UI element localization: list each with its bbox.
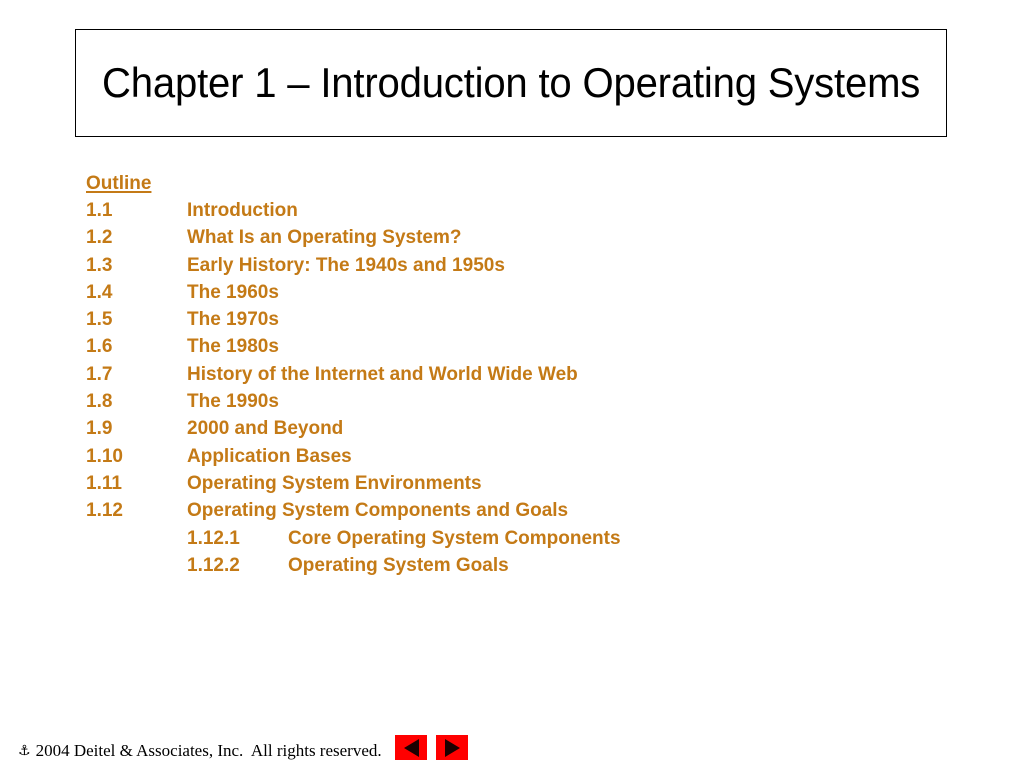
outline-item-title: Early History: The 1940s and 1950s xyxy=(187,252,505,279)
outline-item-number: 1.10 xyxy=(86,443,187,470)
outline-item-number: 1.1 xyxy=(86,197,187,224)
outline-item-number: 1.3 xyxy=(86,252,187,279)
outline-heading: Outline xyxy=(86,170,151,197)
outline-item: 1.12Operating System Components and Goal… xyxy=(86,497,926,524)
outline-item: 1.12.2Operating System Goals xyxy=(86,552,926,579)
page-title: Chapter 1 – Introduction to Operating Sy… xyxy=(102,62,920,104)
previous-slide-button[interactable] xyxy=(395,735,427,760)
outline-item: 1.4The 1960s xyxy=(86,279,926,306)
outline-section: Outline 1.1Introduction1.2What Is an Ope… xyxy=(86,170,926,579)
outline-item: 1.92000 and Beyond xyxy=(86,415,926,442)
outline-item-number: 1.5 xyxy=(86,306,187,333)
outline-item-title: Core Operating System Components xyxy=(288,525,621,552)
outline-item: 1.1Introduction xyxy=(86,197,926,224)
footer: ⚓ 2004 Deitel & Associates, Inc. All rig… xyxy=(18,736,382,764)
outline-item: 1.8The 1990s xyxy=(86,388,926,415)
outline-item-number: 1.9 xyxy=(86,415,187,442)
slide-navigation xyxy=(395,735,468,760)
triangle-left-icon xyxy=(404,739,419,757)
outline-item-number: 1.12.1 xyxy=(187,525,288,552)
outline-item-number: 1.2 xyxy=(86,224,187,251)
outline-item-number: 1.12 xyxy=(86,497,187,524)
outline-item-title: History of the Internet and World Wide W… xyxy=(187,361,578,388)
outline-item-title: 2000 and Beyond xyxy=(187,415,343,442)
outline-item: 1.3Early History: The 1940s and 1950s xyxy=(86,252,926,279)
outline-item: 1.11Operating System Environments xyxy=(86,470,926,497)
outline-item-title: Operating System Components and Goals xyxy=(187,497,568,524)
outline-item: 1.12.1Core Operating System Components xyxy=(86,525,926,552)
outline-list: 1.1Introduction1.2What Is an Operating S… xyxy=(86,197,926,579)
outline-item-title: Operating System Goals xyxy=(288,552,509,579)
outline-item-title: The 1970s xyxy=(187,306,279,333)
triangle-right-icon xyxy=(445,739,460,757)
slide-title-box: Chapter 1 – Introduction to Operating Sy… xyxy=(75,29,947,137)
outline-item-title: Application Bases xyxy=(187,443,352,470)
outline-item-title: Introduction xyxy=(187,197,298,224)
next-slide-button[interactable] xyxy=(436,735,468,760)
outline-item-title: The 1960s xyxy=(187,279,279,306)
outline-item-number: 1.6 xyxy=(86,333,187,360)
outline-item: 1.6The 1980s xyxy=(86,333,926,360)
outline-item-number: 1.11 xyxy=(86,470,187,497)
outline-item-number: 1.4 xyxy=(86,279,187,306)
outline-item-title: The 1980s xyxy=(187,333,279,360)
outline-item: 1.10Application Bases xyxy=(86,443,926,470)
outline-item: 1.2What Is an Operating System? xyxy=(86,224,926,251)
outline-item-number: 1.7 xyxy=(86,361,187,388)
outline-item-title: The 1990s xyxy=(187,388,279,415)
copyright-mark-icon: ⚓ xyxy=(18,744,31,758)
outline-item-number: 1.8 xyxy=(86,388,187,415)
outline-item-number: 1.12.2 xyxy=(187,552,288,579)
outline-item: 1.5The 1970s xyxy=(86,306,926,333)
outline-item: 1.7History of the Internet and World Wid… xyxy=(86,361,926,388)
copyright-text: 2004 Deitel & Associates, Inc. All right… xyxy=(36,742,382,759)
outline-item-title: What Is an Operating System? xyxy=(187,224,462,251)
outline-item-title: Operating System Environments xyxy=(187,470,482,497)
